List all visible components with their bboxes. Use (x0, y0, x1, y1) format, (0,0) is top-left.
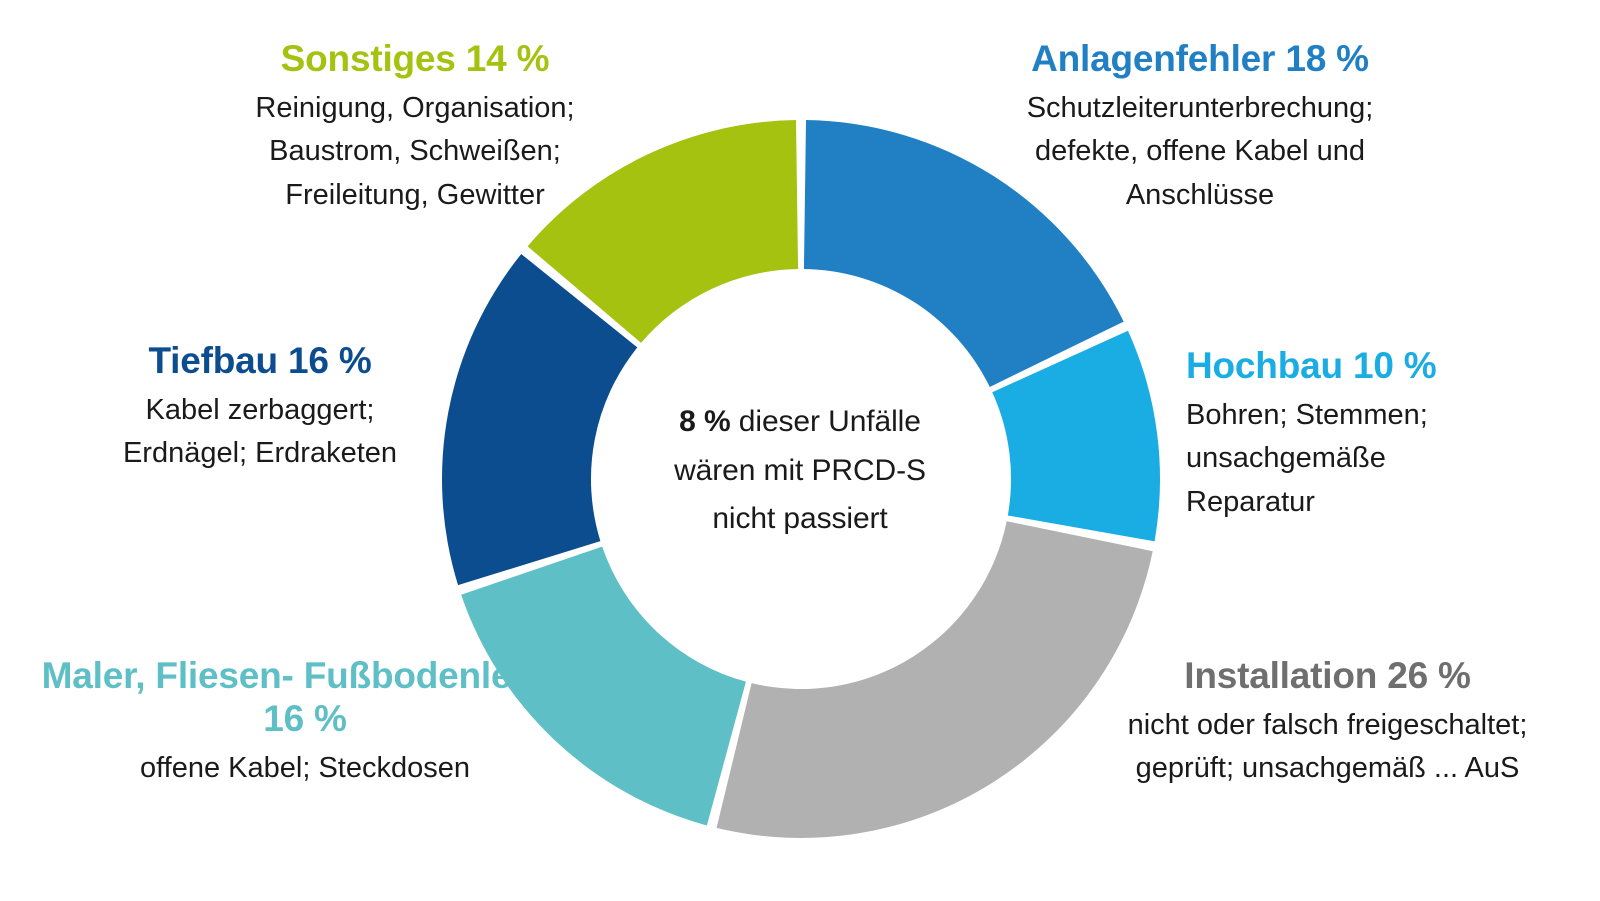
callout-installation-desc: nicht oder falsch freigeschaltet; geprüf… (1040, 704, 1600, 791)
callout-hochbau-heading: Hochbau 10 % (1186, 345, 1596, 388)
callout-hochbau-desc-line-1: Bohren; Stemmen; (1186, 394, 1596, 438)
center-note-line-1-rest: dieser Unfälle (731, 405, 921, 438)
callout-installation-heading: Installation 26 % (1040, 655, 1600, 698)
callout-installation-desc-line-1: nicht oder falsch freigeschaltet; (1040, 704, 1600, 748)
callout-maler-desc-line-1: offene Kabel; Steckdosen (35, 747, 575, 791)
center-note-percent: 8 % (679, 405, 730, 438)
callout-sonstiges-desc: Reinigung, Organisation; Baustrom, Schwe… (150, 87, 680, 218)
callout-installation: Installation 26 % nicht oder falsch frei… (1040, 655, 1600, 791)
callout-hochbau: Hochbau 10 % Bohren; Stemmen; unsachgemä… (1186, 345, 1596, 524)
callout-sonstiges: Sonstiges 14 % Reinigung, Organisation; … (150, 38, 680, 217)
infographic-root: 8 % dieser Unfälle wären mit PRCD-S nich… (0, 0, 1600, 901)
callout-anlagenfehler-desc-line-3: Anschlüsse (930, 174, 1470, 218)
callout-tiefbau-desc-line-1: Kabel zerbaggert; (50, 389, 470, 433)
callout-maler-heading-line-1: Maler, Fliesen- (42, 655, 294, 696)
callout-installation-desc-line-2: geprüft; unsachgemäß ... AuS (1040, 747, 1600, 791)
center-note-line-2: wären mit PRCD-S (600, 447, 1000, 496)
callout-sonstiges-desc-line-2: Baustrom, Schweißen; (150, 130, 680, 174)
callout-sonstiges-heading: Sonstiges 14 % (150, 38, 680, 81)
center-note-line-1: 8 % dieser Unfälle (600, 398, 1000, 447)
center-note-line-3: nicht passiert (600, 495, 1000, 544)
callout-maler-heading-line-2: Fußbodenleger 16 % (263, 655, 568, 739)
callout-anlagenfehler-desc-line-1: Schutzleiterunterbrechung; (930, 87, 1470, 131)
callout-anlagenfehler-heading: Anlagenfehler 18 % (930, 38, 1470, 81)
callout-anlagenfehler: Anlagenfehler 18 % Schutzleiterunterbrec… (930, 38, 1470, 217)
callout-maler-heading: Maler, Fliesen- Fußbodenleger 16 % (35, 655, 575, 741)
callout-hochbau-desc-line-3: Reparatur (1186, 481, 1596, 525)
callout-maler-desc: offene Kabel; Steckdosen (35, 747, 575, 791)
callout-tiefbau-desc-line-2: Erdnägel; Erdraketen (50, 432, 470, 476)
callout-maler-fliesen: Maler, Fliesen- Fußbodenleger 16 % offen… (35, 655, 575, 790)
callout-anlagenfehler-desc-line-2: defekte, offene Kabel und (930, 130, 1470, 174)
donut-center-note: 8 % dieser Unfälle wären mit PRCD-S nich… (600, 398, 1000, 544)
callout-tiefbau-heading: Tiefbau 16 % (50, 340, 470, 383)
callout-sonstiges-desc-line-3: Freileitung, Gewitter (150, 174, 680, 218)
callout-anlagenfehler-desc: Schutzleiterunterbrechung; defekte, offe… (930, 87, 1470, 218)
callout-hochbau-desc: Bohren; Stemmen; unsachgemäße Reparatur (1186, 394, 1596, 525)
callout-sonstiges-desc-line-1: Reinigung, Organisation; (150, 87, 680, 131)
callout-tiefbau-desc: Kabel zerbaggert; Erdnägel; Erdraketen (50, 389, 470, 476)
callout-tiefbau: Tiefbau 16 % Kabel zerbaggert; Erdnägel;… (50, 340, 470, 476)
callout-hochbau-desc-line-2: unsachgemäße (1186, 437, 1596, 481)
